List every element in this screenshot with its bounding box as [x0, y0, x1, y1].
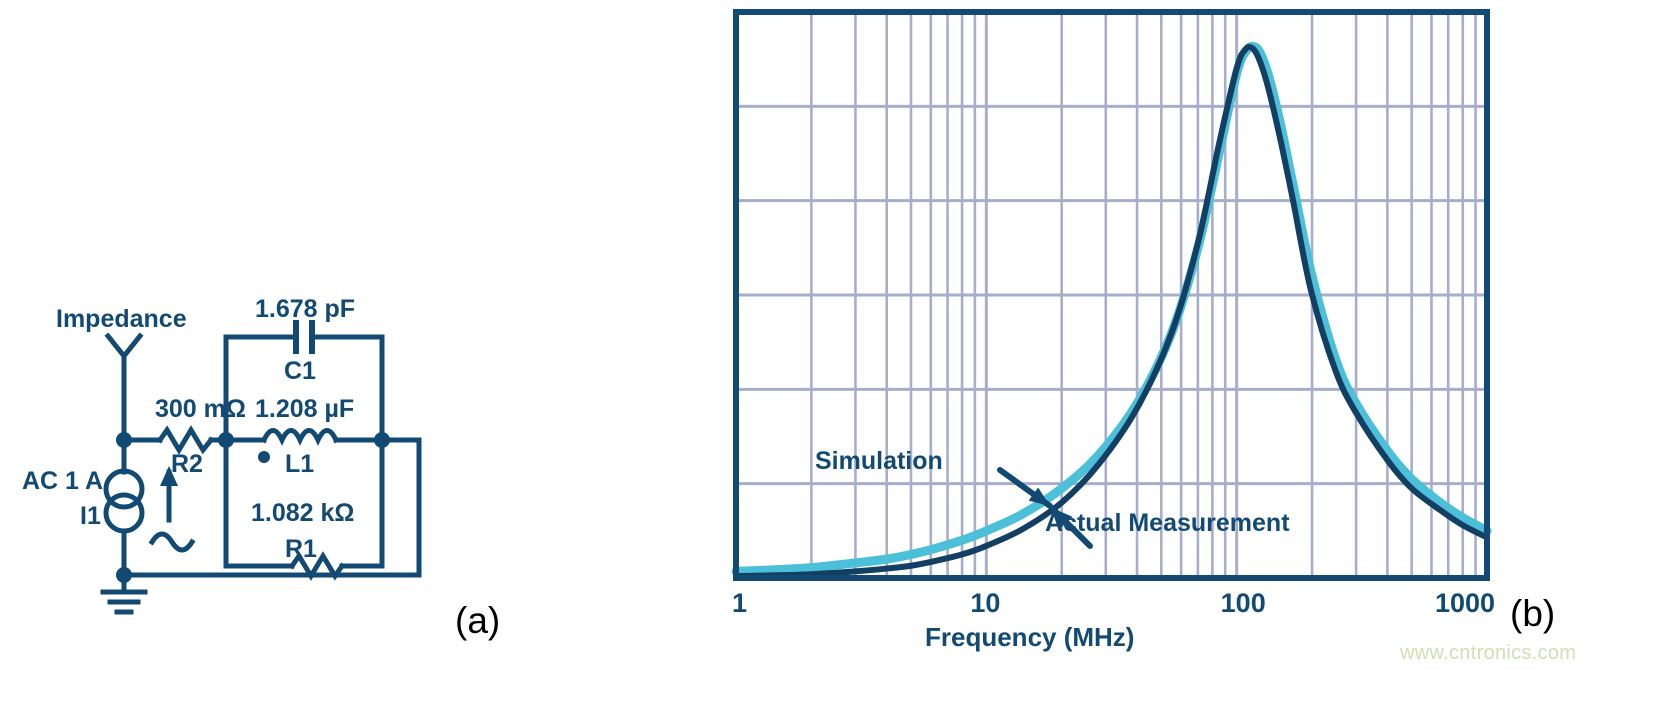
current-source-circle-bottom: [106, 495, 142, 531]
node-dot-c: [374, 432, 390, 448]
l1-designator-label: L1: [285, 450, 314, 479]
c1-designator-label: C1: [284, 357, 316, 386]
impedance-port-icon: [108, 336, 140, 356]
node-dot-b: [218, 432, 234, 448]
panel-b-letter: (b): [1510, 593, 1555, 635]
r1-value-label: 1.082 kΩ: [251, 499, 354, 528]
grid-layer: [736, 12, 1487, 578]
x-tick-label-100: 100: [1221, 588, 1266, 619]
panel-a-letter: (a): [455, 600, 500, 642]
source-designator-label: I1: [80, 502, 101, 531]
site-watermark: www.cntronics.com: [1400, 642, 1576, 665]
ac-waveform-icon: [152, 534, 192, 550]
inductor-polarity-dot: [258, 451, 270, 463]
annotation-actual-measurement-label: Actual Measurement: [1045, 509, 1290, 538]
r2-designator-label: R2: [171, 450, 203, 479]
annotation-simulation-label: Simulation: [815, 447, 943, 476]
node-dot-gnd: [116, 567, 132, 583]
series-line-simulation: [736, 46, 1487, 571]
r1-designator-label: R1: [285, 535, 317, 564]
x-tick-label-10: 10: [970, 588, 1000, 619]
x-tick-label-1: 1: [732, 588, 747, 619]
figure-root: Impedance 300 mΩ R2 1.678 pF C1 1.208 µF…: [0, 0, 1666, 706]
x-axis-title: Frequency (MHz): [925, 622, 1134, 653]
node-dot-a: [116, 432, 132, 448]
x-tick-label-1000: 1000: [1435, 588, 1495, 619]
inductor-l1-symbol: [264, 431, 336, 441]
source-label: AC 1 A: [22, 467, 103, 496]
l1-value-label: 1.208 µF: [255, 395, 354, 424]
impedance-label: Impedance: [56, 305, 187, 334]
r2-value-label: 300 mΩ: [155, 395, 246, 424]
resistor-r2-symbol: [160, 430, 211, 450]
c1-value-label: 1.678 pF: [255, 295, 355, 324]
series-line-actual-measurement: [736, 47, 1487, 576]
series-layer: [736, 46, 1487, 576]
